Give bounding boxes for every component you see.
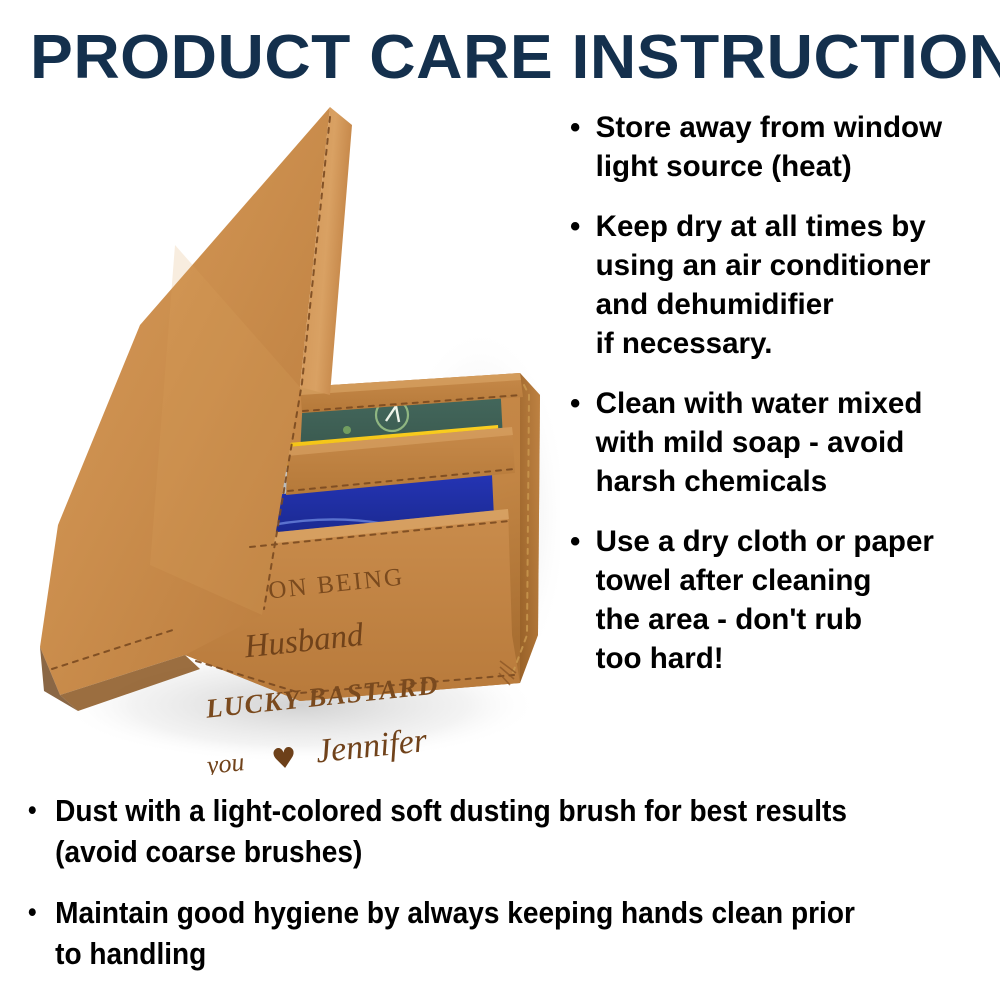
list-item-text: Keep dry at all times by using an air co… xyxy=(596,207,989,363)
list-item-text: Maintain good hygiene by always keeping … xyxy=(55,892,897,974)
bullet-icon: • xyxy=(570,384,580,423)
care-instructions-bottom-list: • Dust with a light-colored soft dusting… xyxy=(28,790,988,994)
bullet-icon: • xyxy=(570,522,580,561)
care-instruction-graphic: PRODUCT CARE INSTRUCTION xyxy=(0,0,1000,1000)
list-item: • Clean with water mixed with mild soap … xyxy=(570,384,989,501)
care-instructions-right-list: • Store away from window light source (h… xyxy=(570,108,995,699)
list-item-text: Use a dry cloth or paper towel after cle… xyxy=(596,522,989,678)
product-photo: ATS ON BEING Husband LUCKY BASTARD you ♥… xyxy=(0,95,560,775)
bullet-icon: • xyxy=(570,207,580,246)
list-item: • Keep dry at all times by using an air … xyxy=(570,207,989,363)
page-title: PRODUCT CARE INSTRUCTION xyxy=(30,27,1000,89)
list-item-text: Store away from window light source (hea… xyxy=(596,108,989,186)
engraving-line-4-prefix: you xyxy=(202,747,245,775)
engraving-heart-icon: ♥ xyxy=(270,741,298,775)
list-item: • Store away from window light source (h… xyxy=(570,108,989,186)
list-item-text: Dust with a light-colored soft dusting b… xyxy=(55,790,897,872)
bullet-icon: • xyxy=(28,892,37,933)
list-item: • Dust with a light-colored soft dusting… xyxy=(28,790,897,872)
list-item: • Maintain good hygiene by always keepin… xyxy=(28,892,897,974)
bullet-icon: • xyxy=(28,790,37,831)
bullet-icon: • xyxy=(570,108,580,147)
list-item-text: Clean with water mixed with mild soap - … xyxy=(596,384,989,501)
list-item: • Use a dry cloth or paper towel after c… xyxy=(570,522,989,678)
